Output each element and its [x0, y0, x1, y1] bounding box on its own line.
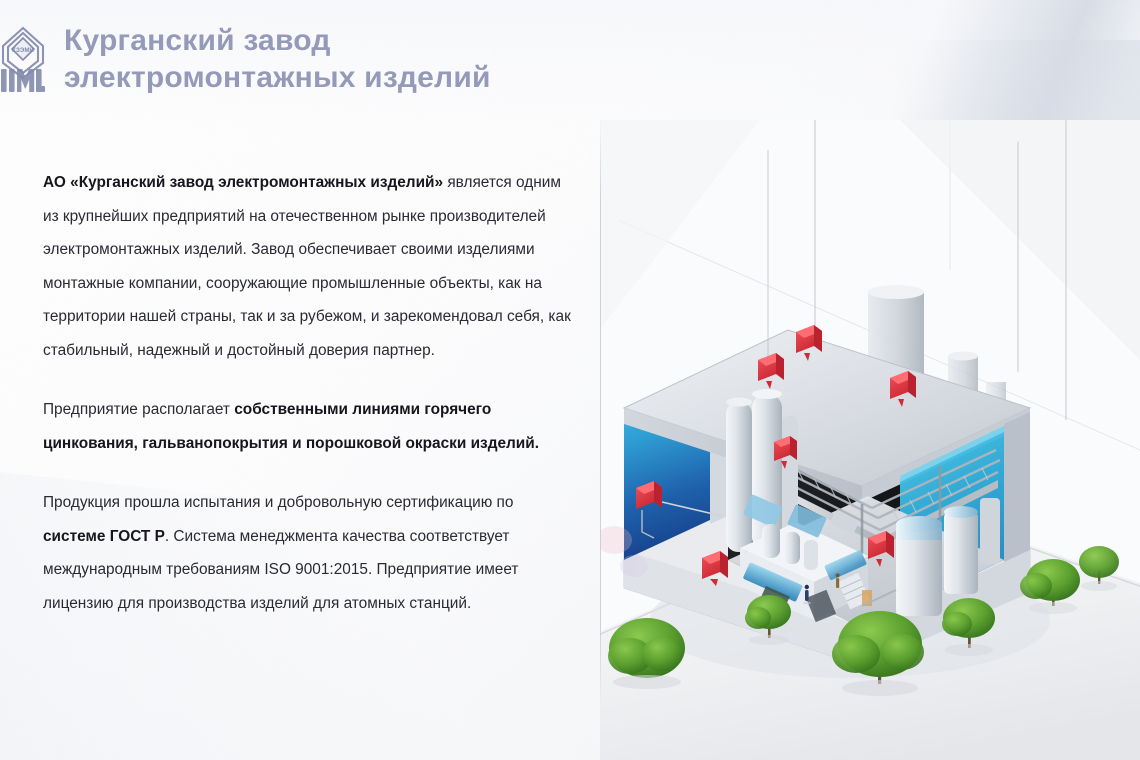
isometric-factory-illustration: Изометрический разрез производственного …: [600, 120, 1140, 760]
page-title: Курганский завод электромонтажных издели…: [64, 23, 491, 96]
paragraph-intro-rest: является одним из крупнейших предприятий…: [43, 174, 571, 359]
logo-inner-text: КЗЭМИ: [12, 47, 34, 54]
tree: [1079, 546, 1119, 591]
page-header: КЗЭМИ Курганский завод электромонтажных …: [0, 0, 1140, 120]
certification-lead-in: Продукция прошла испытания и добровольну…: [43, 494, 513, 511]
paragraph-certification: Продукция прошла испытания и добровольну…: [43, 486, 573, 620]
tree: [745, 595, 791, 645]
tree: [942, 598, 995, 656]
capabilities-lead-in: Предприятие располагает: [43, 401, 234, 418]
paragraph-capabilities: Предприятие располагает собственными лин…: [43, 393, 573, 460]
paragraph-intro: АО «Курганский завод электромонтажных из…: [43, 166, 573, 367]
company-description: АО «Курганский завод электромонтажных из…: [43, 166, 573, 620]
company-legal-name: АО «Курганский завод электромонтажных из…: [43, 174, 443, 191]
tree: [608, 618, 685, 689]
worker-figure-secondary: [836, 573, 840, 588]
slide-root: КЗЭМИ Курганский завод электромонтажных …: [0, 0, 1140, 760]
kzemi-diamond-logo-icon: КЗЭМИ: [0, 25, 46, 95]
gost-standard-highlight: системе ГОСТ Р: [43, 528, 165, 545]
illustration-panel-edge: [600, 118, 601, 710]
